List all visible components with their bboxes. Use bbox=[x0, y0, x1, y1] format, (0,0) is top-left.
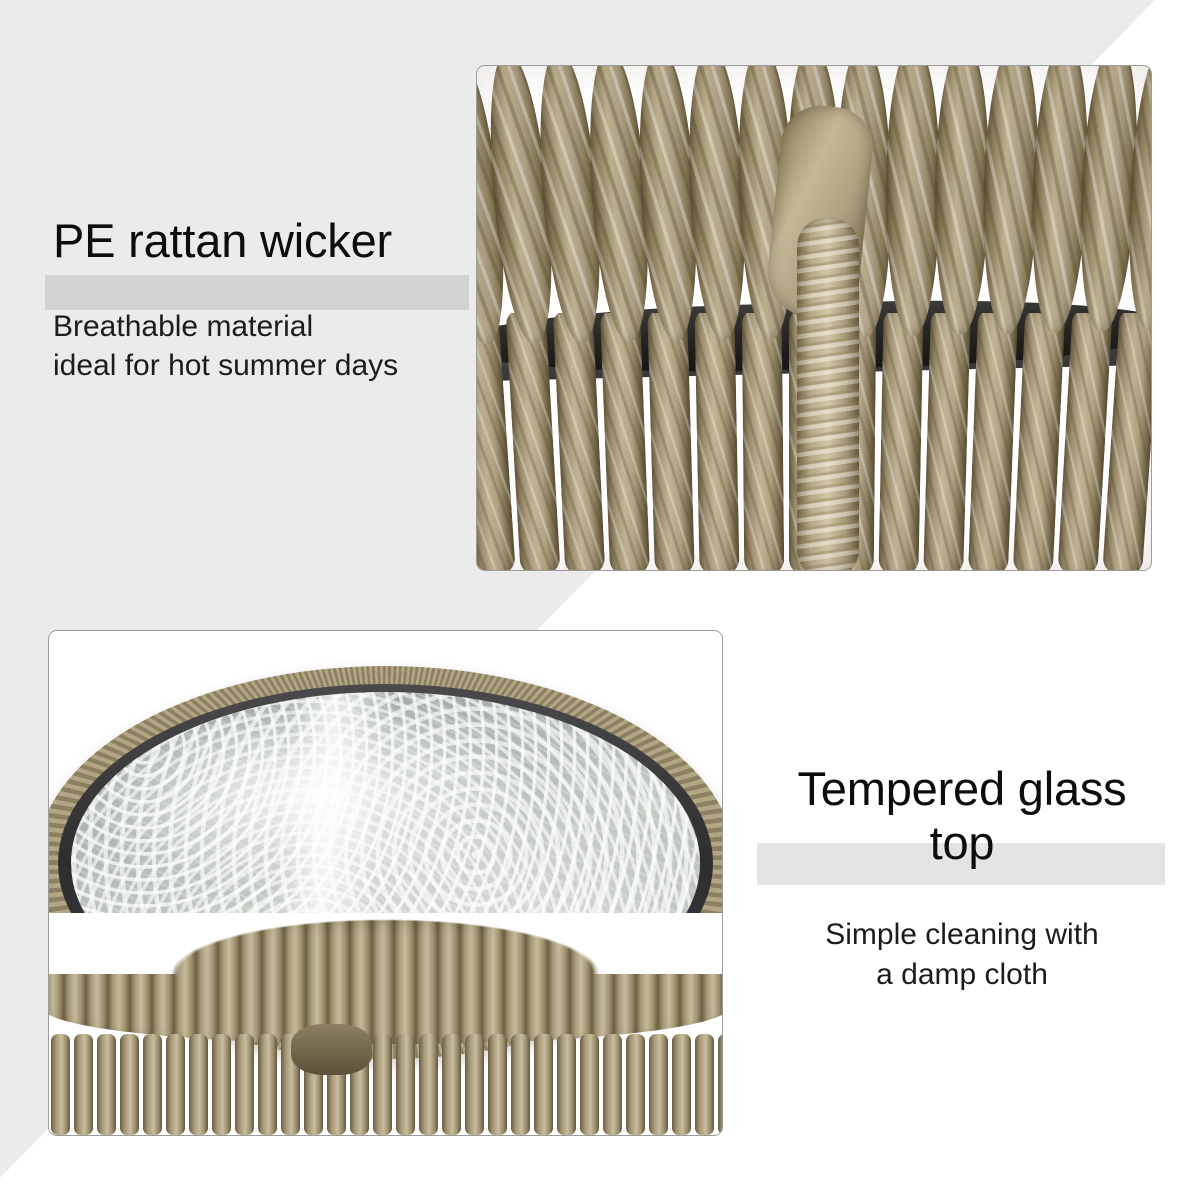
infographic-canvas: PE rattan wicker Breathable material ide… bbox=[0, 0, 1200, 1200]
glass-leg-strand bbox=[557, 1034, 576, 1135]
glass-leg-strand bbox=[419, 1034, 438, 1135]
glass-photo bbox=[49, 631, 722, 1135]
glass-center-post bbox=[291, 1024, 372, 1074]
glass-leg-strand bbox=[212, 1034, 231, 1135]
glass-leg-strand bbox=[511, 1034, 530, 1135]
glass-apron-mask bbox=[49, 913, 722, 973]
glass-leg-strand bbox=[603, 1034, 622, 1135]
glass-leg-strand bbox=[74, 1034, 93, 1135]
glass-leg-strand bbox=[580, 1034, 599, 1135]
glass-leg-strand bbox=[97, 1034, 116, 1135]
wicker-photo bbox=[477, 66, 1151, 570]
glass-leg-strand bbox=[488, 1034, 507, 1135]
glass-leg-strand bbox=[373, 1034, 392, 1135]
feature-image-glass bbox=[48, 630, 723, 1136]
glass-leg-strand bbox=[534, 1034, 553, 1135]
feature-image-wicker bbox=[476, 65, 1152, 571]
glass-leg-strand bbox=[718, 1034, 722, 1135]
glass-leg-strand bbox=[396, 1034, 415, 1135]
headline-highlight-wicker bbox=[45, 275, 469, 310]
glass-leg-strand bbox=[626, 1034, 645, 1135]
glass-leg-strands bbox=[49, 1034, 722, 1135]
glass-leg-strand bbox=[442, 1034, 461, 1135]
glass-leg-strand bbox=[143, 1034, 162, 1135]
feature-text-wicker: PE rattan wicker Breathable material ide… bbox=[45, 214, 475, 386]
glass-leg-strand bbox=[465, 1034, 484, 1135]
glass-leg-strand bbox=[166, 1034, 185, 1135]
glass-leg-strand bbox=[672, 1034, 691, 1135]
headline-glass: Tempered glass top bbox=[757, 762, 1167, 869]
glass-leg-strand bbox=[649, 1034, 668, 1135]
subtext-glass: Simple cleaning with a damp cloth bbox=[757, 915, 1167, 995]
glass-leg-strand bbox=[235, 1034, 254, 1135]
glass-leg-strand bbox=[258, 1034, 277, 1135]
glass-leg-strand bbox=[51, 1034, 70, 1135]
glass-leg-strand bbox=[695, 1034, 714, 1135]
feature-text-glass: Tempered glass top Simple cleaning with … bbox=[757, 762, 1167, 995]
glass-leg-strand bbox=[189, 1034, 208, 1135]
headline-wicker: PE rattan wicker bbox=[45, 214, 475, 268]
subtext-wicker: Breathable material ideal for hot summer… bbox=[45, 307, 475, 387]
glass-leg-strand bbox=[120, 1034, 139, 1135]
wicker-vignette bbox=[477, 66, 1151, 570]
